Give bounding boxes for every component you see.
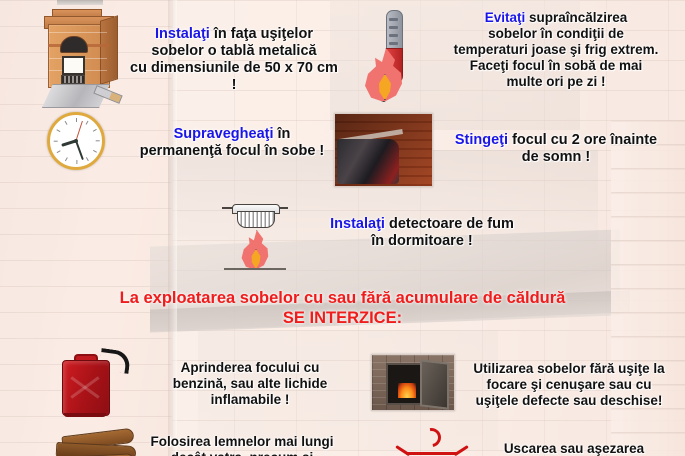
tip-overheating-line2: sobelor în condiţii de <box>432 26 680 42</box>
flame-icon <box>360 48 408 100</box>
brick-stove-icon <box>42 8 122 108</box>
thermometer-flame-icon <box>360 8 430 100</box>
tip-overheating-line3: temperaturi joase şi frig extrem. <box>432 42 680 58</box>
tip-extinguish-line1: focul cu 2 ore înainte <box>508 132 657 148</box>
ban-no-doors-line2: focare şi cenuşare sau cu <box>456 377 682 393</box>
ban-petrol-line1: Aprinderea focului cu <box>150 360 350 376</box>
tip-extinguish-keyword: Stingeţi <box>455 132 508 148</box>
ban-no-doors-line3: uşiţele defecte sau deschise! <box>456 393 682 409</box>
ban-drying-clothes-line1: Uscarea sau aşezarea <box>474 441 674 456</box>
tip-metal-sheet-line1: în faţa uşiţelor <box>210 26 313 42</box>
tip-metal-sheet-text: Instalaţi în faţa uşiţelor sobelor o tab… <box>126 26 342 94</box>
tip-extinguish-line2: de somn ! <box>437 149 675 166</box>
ban-no-doors-text: Utilizarea sobelor fără uşiţe la focare … <box>456 361 682 409</box>
tip-overheating-line4: Faceţi focul în sobă de mai <box>432 58 680 74</box>
ban-no-doors-line1: Utilizarea sobelor fără uşiţe la <box>456 361 682 377</box>
tip-smoke-detector-keyword: Instalaţi <box>330 216 385 232</box>
red-clothes-hanger-icon <box>406 428 466 456</box>
tip-metal-sheet-line2: sobelor o tablă metalică <box>126 43 342 60</box>
tip-supervise-line1: în <box>274 126 291 142</box>
detector-vents <box>237 211 275 228</box>
ban-long-logs-line1: Folosirea lemnelor mai lungi <box>128 434 356 450</box>
cropped-top-element <box>57 0 103 5</box>
tip-overheating-text: Evitaţi supraîncălzirea sobelor în condi… <box>432 10 680 90</box>
red-jerrycan-icon <box>58 350 134 422</box>
burnt-clothes-photo <box>334 113 433 187</box>
ban-petrol-text: Aprinderea focului cu benzină, sau alte … <box>150 360 350 408</box>
tip-supervise-keyword: Supravegheaţi <box>174 126 274 142</box>
clock-icon <box>47 112 105 170</box>
prohibitions-heading: La exploatarea sobelor cu sau fără acumu… <box>0 289 685 329</box>
tip-overheating-line1: supraîncălzirea <box>525 10 627 25</box>
tip-smoke-detector-line1: detectoare de fum <box>385 216 514 232</box>
tip-overheating-keyword: Evitaţi <box>485 10 526 25</box>
prohibitions-heading-line2: SE INTERZICE: <box>0 309 685 329</box>
tip-metal-sheet-line3: cu dimensiunile de 50 x 70 cm ! <box>126 60 342 94</box>
ban-drying-clothes-text: Uscarea sau aşezarea <box>474 441 674 456</box>
tip-smoke-detector-text: Instalaţi detectoare de fum în dormitoar… <box>296 216 548 250</box>
flame-icon <box>238 230 272 268</box>
tip-supervise-text: Supravegheaţi în permanenţă focul în sob… <box>124 126 340 160</box>
tip-overheating-line5: multe ori pe zi ! <box>432 74 680 90</box>
tip-supervise-line2: permanenţă focul în sobe ! <box>124 143 340 160</box>
ban-petrol-line2: benzină, sau alte lichide <box>150 376 350 392</box>
fire-safety-poster: Instalaţi în faţa uşiţelor sobelor o tab… <box>0 0 685 456</box>
tip-smoke-detector-line2: în dormitoare ! <box>296 233 548 250</box>
fireplace-photo <box>371 354 455 411</box>
ban-petrol-line3: inflamabile ! <box>150 392 350 408</box>
tip-metal-sheet-keyword: Instalaţi <box>155 26 210 42</box>
ban-long-logs-text: Folosirea lemnelor mai lungi decât vatra… <box>128 434 356 456</box>
prohibitions-heading-line1: La exploatarea sobelor cu sau fără acumu… <box>0 289 685 309</box>
tip-extinguish-text: Stingeţi focul cu 2 ore înainte de somn … <box>437 132 675 166</box>
ban-long-logs-line2: decât vatra, precum şi <box>128 450 356 456</box>
smoke-detector-icon <box>222 202 288 274</box>
